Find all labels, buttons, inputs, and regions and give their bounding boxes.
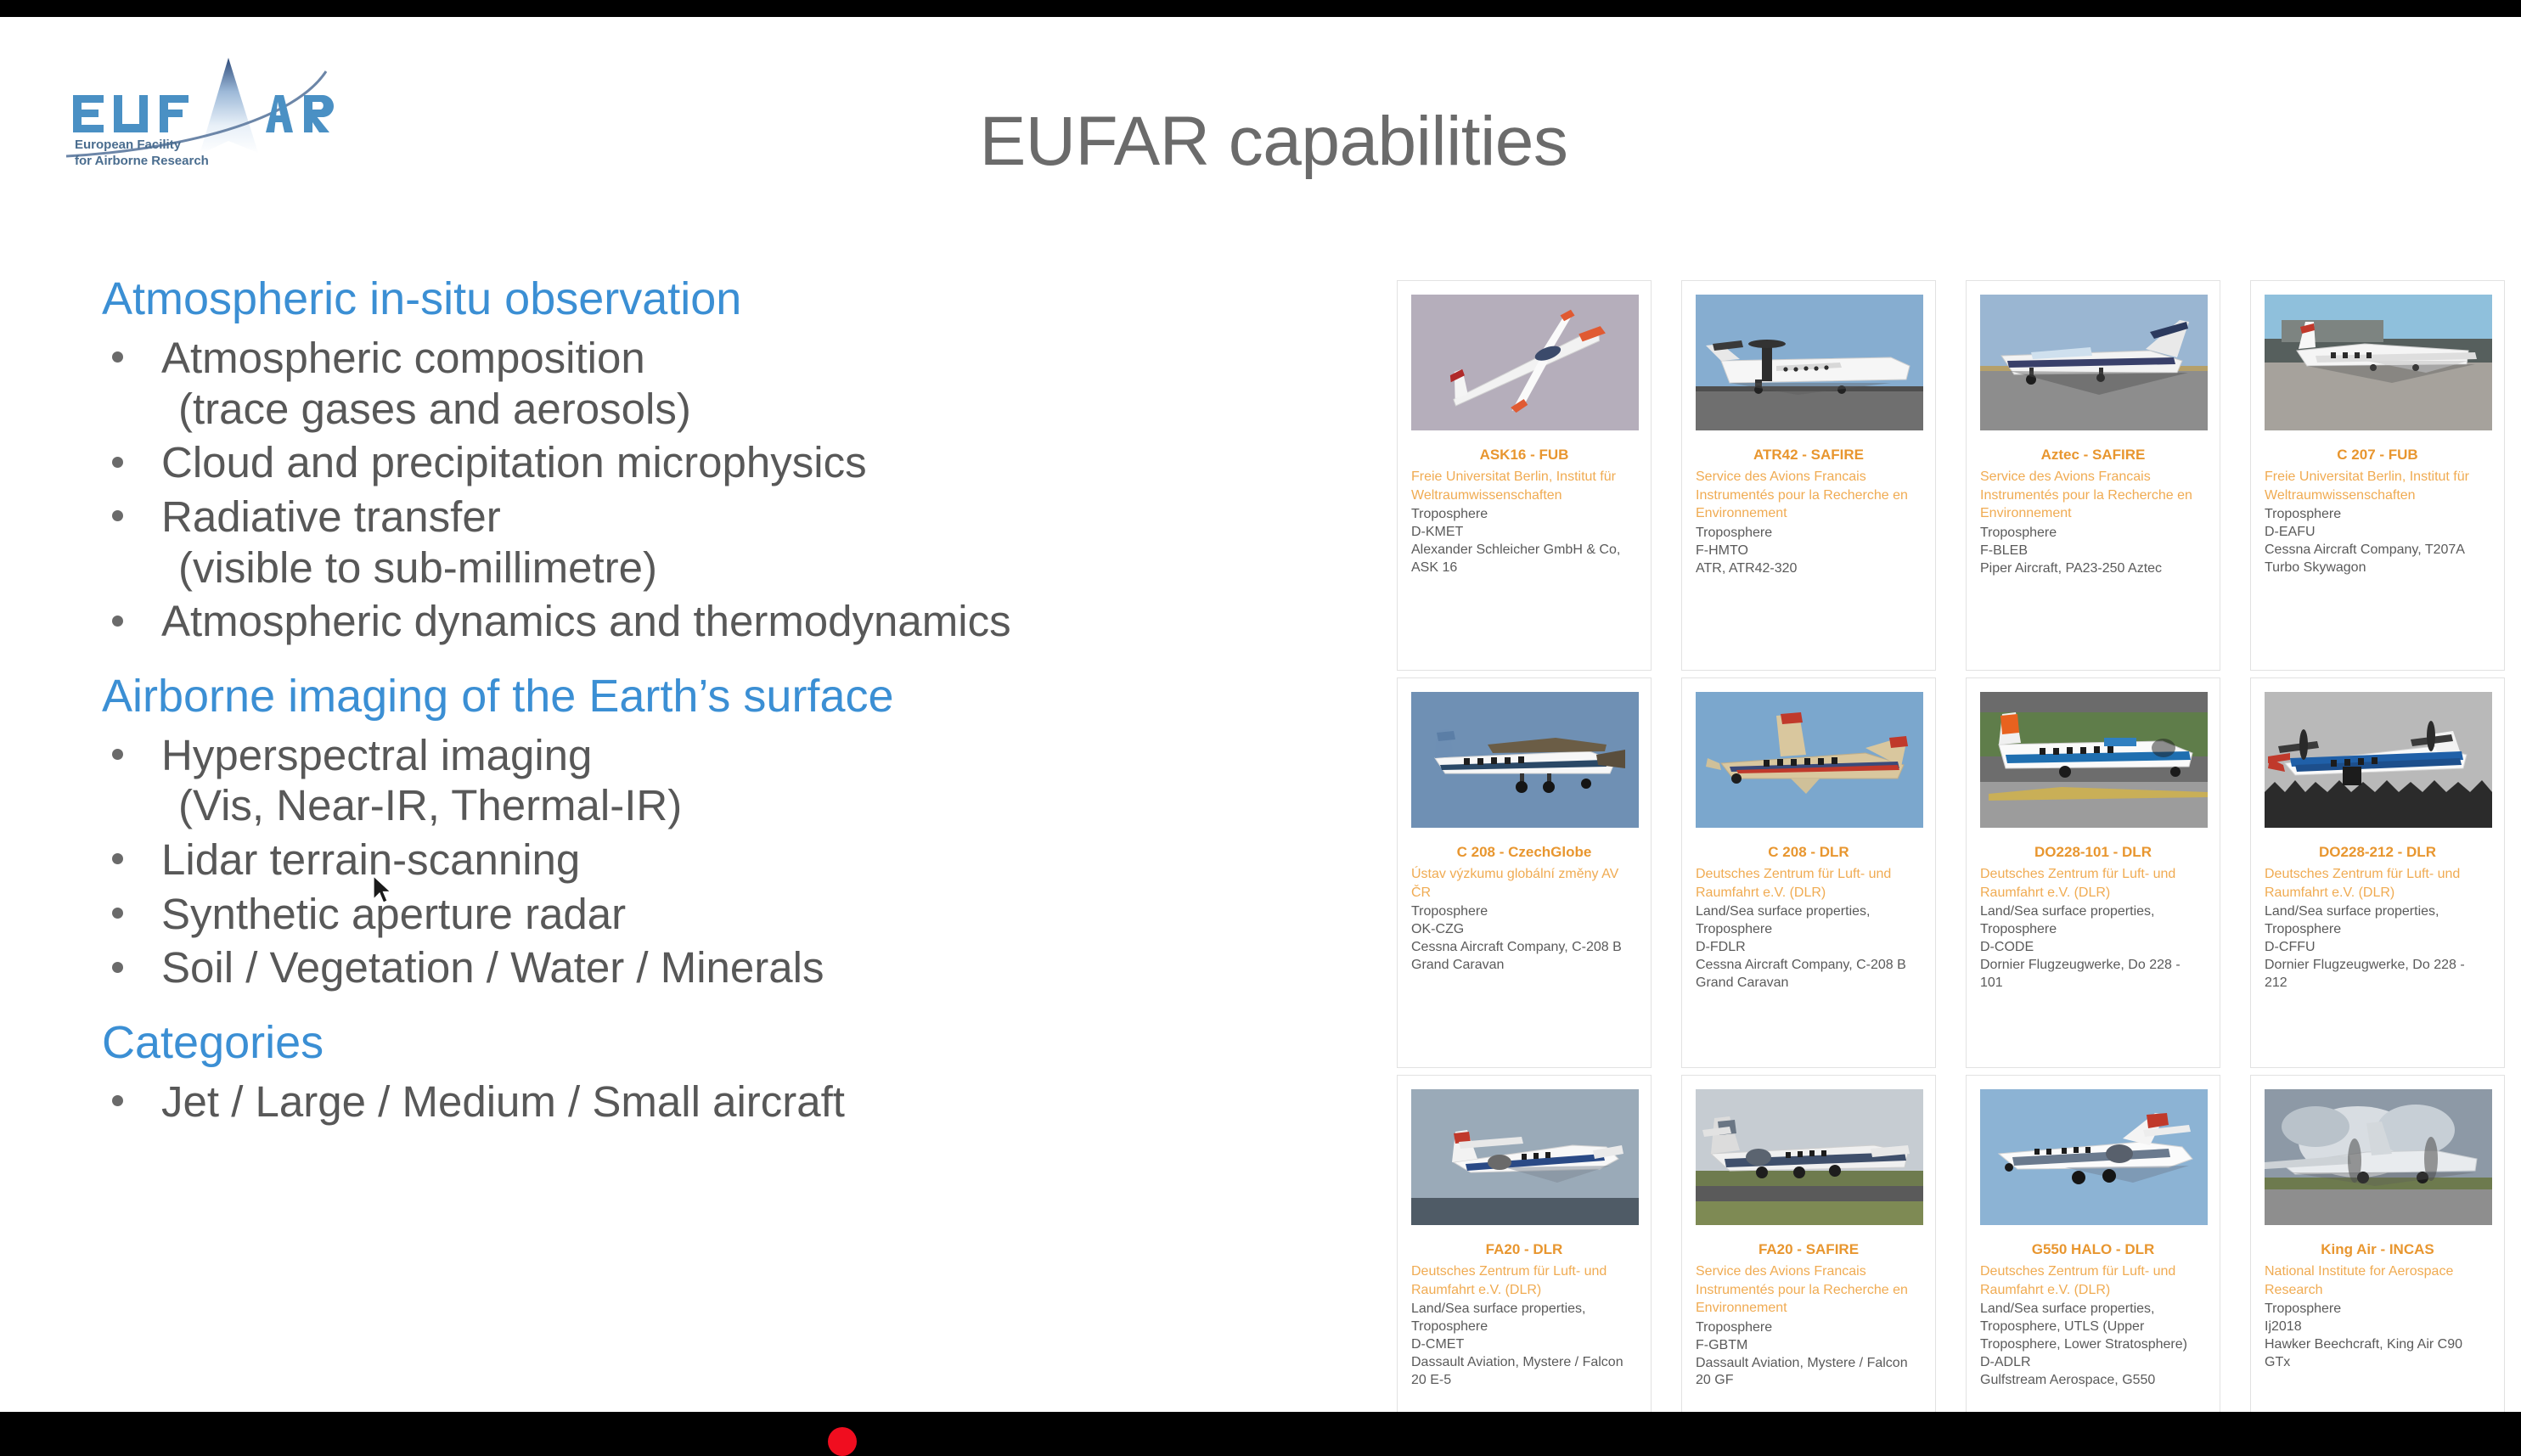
aircraft-card[interactable]: C 207 - FUB Freie Universitat Berlin, In…: [2250, 280, 2505, 671]
bullet-text: Jet / Large / Medium / Small aircraft: [161, 1077, 845, 1126]
bullet-text-continuation: (visible to sub-millimetre): [161, 542, 1376, 593]
video-viewport: European Facility for Airborne Research …: [0, 0, 2521, 1456]
aircraft-name: ATR42 - SAFIRE: [1696, 446, 1922, 464]
section-heading-airborne-imaging: Airborne imaging of the Earth’s surface: [102, 669, 1376, 725]
list-item: Cloud and precipitation microphysics: [102, 437, 1376, 488]
aircraft-photo: [1980, 1089, 2208, 1225]
aircraft-card[interactable]: ASK16 - FUB Freie Universitat Berlin, In…: [1397, 280, 1652, 671]
bullet-dot-icon: [112, 962, 123, 973]
aircraft-organisation: Deutsches Zentrum für Luft- und Raumfahr…: [1980, 1262, 2206, 1299]
aircraft-domains: Troposphere: [1980, 525, 2206, 542]
aircraft-card[interactable]: Aztec - SAFIRE Service des Avions Franca…: [1966, 280, 2220, 671]
aircraft-manufacturer: ATR, ATR42-320: [1696, 560, 1922, 578]
aircraft-organisation: Freie Universitat Berlin, Institut für W…: [1411, 468, 1637, 504]
aircraft-card-grid: ASK16 - FUB Freie Universitat Berlin, In…: [1397, 280, 2501, 1412]
aircraft-manufacturer: Hawker Beechcraft, King Air C90 GTx: [2265, 1336, 2490, 1372]
aircraft-card[interactable]: DO228-212 - DLR Deutsches Zentrum für Lu…: [2250, 677, 2505, 1068]
aircraft-manufacturer: Cessna Aircraft Company, C-208 B Grand C…: [1696, 957, 1922, 992]
list-item: Radiative transfer (visible to sub-milli…: [102, 492, 1376, 593]
aircraft-photo: [1980, 295, 2208, 430]
aircraft-name: DO228-101 - DLR: [1980, 843, 2206, 861]
aircraft-registration: D-CODE: [1980, 939, 2206, 957]
aircraft-name: DO228-212 - DLR: [2265, 843, 2490, 861]
bullet-text: Radiative transfer: [161, 492, 501, 541]
aircraft-registration: OK-CZG: [1411, 921, 1637, 939]
bullet-text: Atmospheric dynamics and thermodynamics: [161, 597, 1011, 645]
aircraft-photo: [1696, 295, 1923, 430]
aircraft-organisation: Service des Avions Francais Instrumentés…: [1980, 468, 2206, 523]
aircraft-domains: Troposphere: [1411, 506, 1637, 524]
aircraft-photo: [1411, 295, 1639, 430]
bullet-text-continuation: (Vis, Near-IR, Thermal-IR): [161, 780, 1376, 831]
aircraft-domains: Land/Sea surface properties, Troposphere…: [1980, 1301, 2206, 1353]
aircraft-manufacturer: Piper Aircraft, PA23-250 Aztec: [1980, 560, 2206, 578]
aircraft-domains: Troposphere: [2265, 506, 2490, 524]
bullet-dot-icon: [112, 457, 123, 468]
list-item: Soil / Vegetation / Water / Minerals: [102, 942, 1376, 993]
aircraft-domains: Troposphere: [1696, 1319, 1922, 1337]
aircraft-card[interactable]: FA20 - DLR Deutsches Zentrum für Luft- u…: [1397, 1075, 1652, 1412]
bullet-list-categories: Jet / Large / Medium / Small aircraft: [102, 1077, 1376, 1127]
bullet-dot-icon: [112, 853, 123, 864]
list-item: Lidar terrain-scanning: [102, 835, 1376, 885]
aircraft-manufacturer: Alexander Schleicher GmbH & Co, ASK 16: [1411, 542, 1637, 577]
bullet-dot-icon: [112, 749, 123, 760]
aircraft-meta: Land/Sea surface properties, Troposphere…: [2265, 903, 2490, 992]
aircraft-photo: [1411, 692, 1639, 828]
aircraft-name: G550 HALO - DLR: [1980, 1240, 2206, 1258]
aircraft-registration: D-CFFU: [2265, 939, 2490, 957]
aircraft-organisation: Deutsches Zentrum für Luft- und Raumfahr…: [1696, 865, 1922, 902]
aircraft-manufacturer: Dassault Aviation, Mystere / Falcon 20 G…: [1696, 1355, 1922, 1391]
aircraft-photo: [1696, 1089, 1923, 1225]
logo-tagline-line2: for Airborne Research: [75, 154, 209, 168]
aircraft-registration: F-GBTM: [1696, 1337, 1922, 1355]
aircraft-photo: [1696, 692, 1923, 828]
bullet-text: Atmospheric composition: [161, 334, 645, 382]
page-title: EUFAR capabilities: [679, 102, 1868, 182]
aircraft-registration: F-HMTO: [1696, 542, 1922, 560]
list-item: Atmospheric composition (trace gases and…: [102, 333, 1376, 434]
bullet-text: Hyperspectral imaging: [161, 731, 592, 779]
aircraft-registration: D-ADLR: [1980, 1354, 2206, 1372]
list-item: Atmospheric dynamics and thermodynamics: [102, 596, 1376, 647]
section-heading-categories: Categories: [102, 1015, 1376, 1071]
aircraft-photo: [1411, 1089, 1639, 1225]
aircraft-name: FA20 - SAFIRE: [1696, 1240, 1922, 1258]
aircraft-manufacturer: Cessna Aircraft Company, C-208 B Grand C…: [1411, 939, 1637, 975]
aircraft-organisation: Freie Universitat Berlin, Institut für W…: [2265, 468, 2490, 504]
aircraft-photo: [2265, 295, 2492, 430]
list-item: Synthetic aperture radar: [102, 889, 1376, 940]
aircraft-name: C 208 - CzechGlobe: [1411, 843, 1637, 861]
aircraft-name: King Air - INCAS: [2265, 1240, 2490, 1258]
capabilities-content: Atmospheric in-situ observation Atmosphe…: [102, 272, 1376, 1131]
aircraft-registration: D-EAFU: [2265, 524, 2490, 542]
aircraft-meta: Land/Sea surface properties, Troposphere…: [1696, 903, 1922, 992]
aircraft-meta: Troposphere F-GBTM Dassault Aviation, My…: [1696, 1319, 1922, 1390]
bullet-dot-icon: [112, 351, 123, 363]
eufar-logo-graphic: European Facility for Airborne Research: [61, 53, 375, 171]
aircraft-registration: D-FDLR: [1696, 939, 1922, 957]
aircraft-domains: Land/Sea surface properties, Troposphere: [1980, 903, 2206, 939]
aircraft-photo: [1980, 692, 2208, 828]
aircraft-card[interactable]: FA20 - SAFIRE Service des Avions Francai…: [1681, 1075, 1936, 1412]
aircraft-organisation: Ústav výzkumu globální změny AV ČR: [1411, 865, 1637, 902]
bullet-dot-icon: [112, 908, 123, 919]
aircraft-domains: Troposphere: [2265, 1301, 2490, 1318]
aircraft-meta: Land/Sea surface properties, Troposphere…: [1411, 1301, 1637, 1389]
aircraft-organisation: Service des Avions Francais Instrumentés…: [1696, 1262, 1922, 1318]
aircraft-meta: Troposphere OK-CZG Cessna Aircraft Compa…: [1411, 903, 1637, 974]
aircraft-registration: F-BLEB: [1980, 542, 2206, 560]
aircraft-card[interactable]: ATR42 - SAFIRE Service des Avions Franca…: [1681, 280, 1936, 671]
aircraft-card[interactable]: G550 HALO - DLR Deutsches Zentrum für Lu…: [1966, 1075, 2220, 1412]
list-item: Hyperspectral imaging (Vis, Near-IR, The…: [102, 730, 1376, 831]
aircraft-name: ASK16 - FUB: [1411, 446, 1637, 464]
aircraft-name: C 208 - DLR: [1696, 843, 1922, 861]
letterbox-top: [0, 0, 2521, 17]
aircraft-meta: Troposphere F-BLEB Piper Aircraft, PA23-…: [1980, 525, 2206, 577]
aircraft-photo: [2265, 692, 2492, 828]
aircraft-name: FA20 - DLR: [1411, 1240, 1637, 1258]
bullet-dot-icon: [112, 510, 123, 521]
bullet-list-atmospheric: Atmospheric composition (trace gases and…: [102, 333, 1376, 647]
aircraft-registration: D-CMET: [1411, 1336, 1637, 1354]
aircraft-card[interactable]: King Air - INCAS National Institute for …: [2250, 1075, 2505, 1412]
logo-tagline-line1: European Facility: [75, 138, 182, 152]
aircraft-domains: Troposphere: [1411, 903, 1637, 921]
aircraft-meta: Troposphere Ij2018 Hawker Beechcraft, Ki…: [2265, 1301, 2490, 1371]
aircraft-organisation: National Institute for Aerospace Researc…: [2265, 1262, 2490, 1299]
aircraft-registration: D-KMET: [1411, 524, 1637, 542]
aircraft-card[interactable]: DO228-101 - DLR Deutsches Zentrum für Lu…: [1966, 677, 2220, 1068]
bullet-dot-icon: [112, 616, 123, 627]
aircraft-meta: Troposphere D-KMET Alexander Schleicher …: [1411, 506, 1637, 576]
aircraft-manufacturer: Cessna Aircraft Company, T207A Turbo Sky…: [2265, 542, 2490, 577]
aircraft-name: C 207 - FUB: [2265, 446, 2490, 464]
bullet-text: Synthetic aperture radar: [161, 890, 626, 938]
bullet-text-continuation: (trace gases and aerosols): [161, 384, 1376, 435]
aircraft-meta: Troposphere F-HMTO ATR, ATR42-320: [1696, 525, 1922, 577]
aircraft-domains: Land/Sea surface properties, Troposphere: [1696, 903, 1922, 939]
aircraft-meta: Land/Sea surface properties, Troposphere…: [1980, 1301, 2206, 1389]
bullet-list-airborne-imaging: Hyperspectral imaging (Vis, Near-IR, The…: [102, 730, 1376, 993]
bullet-text: Soil / Vegetation / Water / Minerals: [161, 943, 824, 992]
aircraft-meta: Troposphere D-EAFU Cessna Aircraft Compa…: [2265, 506, 2490, 576]
bullet-text: Lidar terrain-scanning: [161, 835, 580, 884]
aircraft-domains: Land/Sea surface properties, Troposphere: [2265, 903, 2490, 939]
bullet-dot-icon: [112, 1095, 123, 1106]
aircraft-manufacturer: Dornier Flugzeugwerke, Do 228 - 101: [1980, 957, 2206, 992]
player-control-bar[interactable]: [0, 1412, 2521, 1456]
aircraft-photo: [2265, 1089, 2492, 1225]
bullet-text: Cloud and precipitation microphysics: [161, 438, 867, 486]
player-progress-handle[interactable]: [828, 1427, 857, 1456]
aircraft-manufacturer: Dassault Aviation, Mystere / Falcon 20 E…: [1411, 1354, 1637, 1390]
section-heading-atmospheric: Atmospheric in-situ observation: [102, 272, 1376, 328]
presentation-slide: European Facility for Airborne Research …: [0, 17, 2521, 1412]
aircraft-manufacturer: Dornier Flugzeugwerke, Do 228 - 212: [2265, 957, 2490, 992]
aircraft-organisation: Deutsches Zentrum für Luft- und Raumfahr…: [1980, 865, 2206, 902]
aircraft-domains: Land/Sea surface properties, Troposphere: [1411, 1301, 1637, 1336]
list-item: Jet / Large / Medium / Small aircraft: [102, 1077, 1376, 1127]
aircraft-name: Aztec - SAFIRE: [1980, 446, 2206, 464]
aircraft-meta: Land/Sea surface properties, Troposphere…: [1980, 903, 2206, 992]
aircraft-organisation: Service des Avions Francais Instrumentés…: [1696, 468, 1922, 523]
aircraft-manufacturer: Gulfstream Aerospace, G550: [1980, 1372, 2206, 1390]
eufar-logo: European Facility for Airborne Research: [61, 53, 375, 171]
aircraft-domains: Troposphere: [1696, 525, 1922, 542]
aircraft-organisation: Deutsches Zentrum für Luft- und Raumfahr…: [1411, 1262, 1637, 1299]
aircraft-registration: Ij2018: [2265, 1318, 2490, 1336]
aircraft-card[interactable]: C 208 - CzechGlobe Ústav výzkumu globáln…: [1397, 677, 1652, 1068]
aircraft-organisation: Deutsches Zentrum für Luft- und Raumfahr…: [2265, 865, 2490, 902]
aircraft-card[interactable]: C 208 - DLR Deutsches Zentrum für Luft- …: [1681, 677, 1936, 1068]
